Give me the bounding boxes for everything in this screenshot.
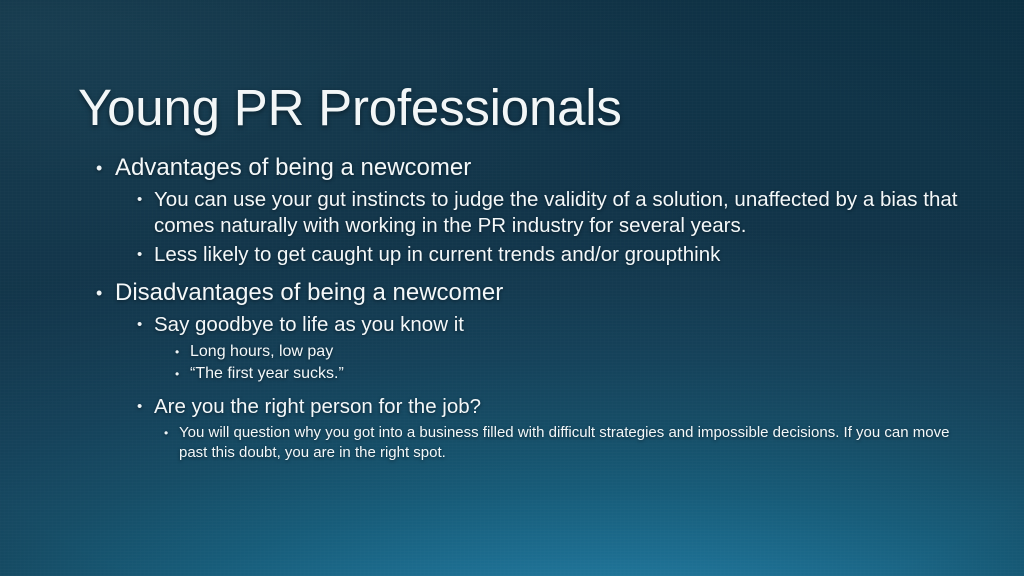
- bullet-text: You can use your gut instincts to judge …: [154, 187, 976, 239]
- bullet-marker-icon: •: [96, 277, 115, 309]
- bullet-marker-icon: •: [175, 341, 190, 363]
- slide-body-content: •Advantages of being a newcomer•You can …: [96, 152, 976, 463]
- bullet-marker-icon: •: [96, 152, 115, 184]
- bullet-marker-icon: •: [175, 363, 190, 385]
- bullet-item-level-2: •Are you the right person for the job?: [96, 394, 976, 420]
- bullet-item-level-2: •Say goodbye to life as you know it: [96, 312, 976, 338]
- bullet-text: “The first year sucks.”: [190, 363, 976, 385]
- bullet-item-level-2: •You can use your gut instincts to judge…: [96, 187, 976, 239]
- bullet-marker-icon: •: [137, 187, 154, 213]
- bullet-item-level-2: •Less likely to get caught up in current…: [96, 242, 976, 268]
- bullet-item-level-4: •You will question why you got into a bu…: [96, 423, 976, 463]
- bullet-marker-icon: •: [137, 394, 154, 420]
- bullet-text: Less likely to get caught up in current …: [154, 242, 976, 268]
- bullet-marker-icon: •: [164, 423, 179, 443]
- bullet-item-level-3: •Long hours, low pay: [96, 341, 976, 363]
- bullet-text: Say goodbye to life as you know it: [154, 312, 976, 338]
- presentation-slide: Young PR Professionals •Advantages of be…: [0, 0, 1024, 576]
- bullet-marker-icon: •: [137, 312, 154, 338]
- bullet-item-level-1: •Advantages of being a newcomer: [96, 152, 976, 184]
- bullet-text: You will question why you got into a bus…: [179, 423, 976, 463]
- slide-title: Young PR Professionals: [78, 78, 958, 138]
- bullet-item-level-3: •“The first year sucks.”: [96, 363, 976, 385]
- bullet-item-level-1: •Disadvantages of being a newcomer: [96, 277, 976, 309]
- bullet-text: Advantages of being a newcomer: [115, 152, 976, 184]
- bullet-text: Long hours, low pay: [190, 341, 976, 363]
- bullet-text: Disadvantages of being a newcomer: [115, 277, 976, 309]
- bullet-text: Are you the right person for the job?: [154, 394, 976, 420]
- bullet-marker-icon: •: [137, 242, 154, 268]
